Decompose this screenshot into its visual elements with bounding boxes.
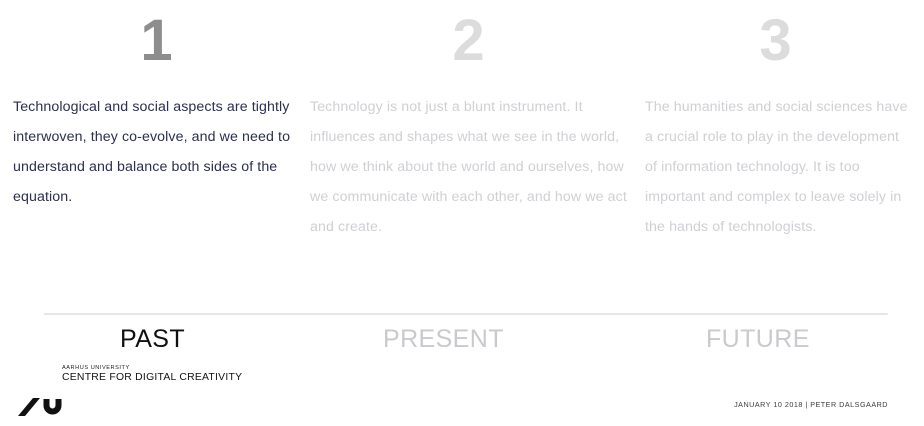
column-numeral-2: 2 — [307, 0, 629, 72]
column-future: 3 The humanities and social sciences hav… — [645, 0, 913, 242]
brand-centre-name: CENTRE FOR DIGITAL CREATIVITY — [62, 373, 242, 384]
timeline-label-future: FUTURE — [706, 322, 810, 356]
column-present: 2 Technology is not just a blunt instrum… — [310, 0, 632, 242]
footer-credit: JANUARY 10 2018 | PETER DALSGAARD — [734, 400, 888, 409]
timeline-rule — [44, 313, 888, 315]
column-body-2: Technology is not just a blunt instrumen… — [310, 92, 632, 242]
column-past: 1 Technological and social aspects are t… — [13, 0, 303, 212]
brand-lockup: AARHUS UNIVERSITY CENTRE FOR DIGITAL CRE… — [62, 366, 242, 384]
presentation-slide: 1 Technological and social aspects are t… — [0, 0, 924, 426]
au-logo-icon — [16, 396, 66, 418]
column-numeral-3: 3 — [641, 0, 909, 72]
column-numeral-1: 1 — [11, 0, 301, 72]
brand-university-name: AARHUS UNIVERSITY — [62, 366, 242, 372]
timeline-label-present: PRESENT — [383, 322, 504, 356]
column-body-1: Technological and social aspects are tig… — [13, 92, 303, 212]
column-body-3: The humanities and social sciences have … — [645, 92, 913, 242]
timeline-label-past: PAST — [120, 322, 185, 356]
